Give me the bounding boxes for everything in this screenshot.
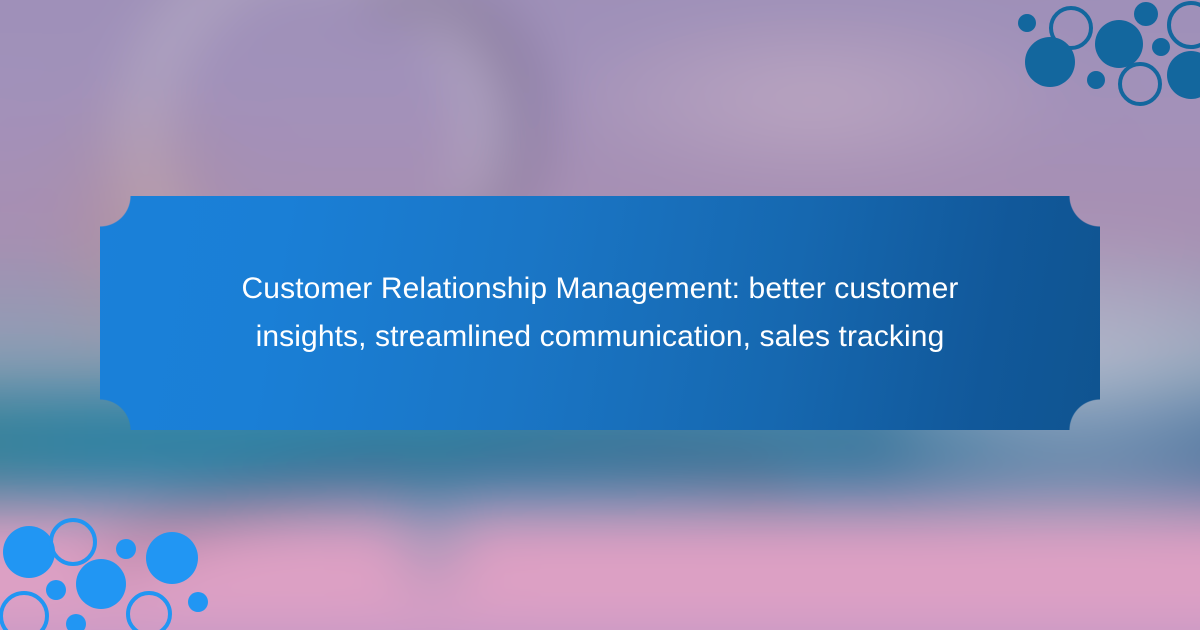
share-card-canvas: Customer Relationship Management: better… — [0, 0, 1200, 630]
headline-banner: Customer Relationship Management: better… — [100, 196, 1100, 430]
background-haze-top — [536, 2, 1087, 193]
headline-banner-text-container: Customer Relationship Management: better… — [100, 196, 1100, 430]
headline-text: Customer Relationship Management: better… — [205, 265, 995, 361]
